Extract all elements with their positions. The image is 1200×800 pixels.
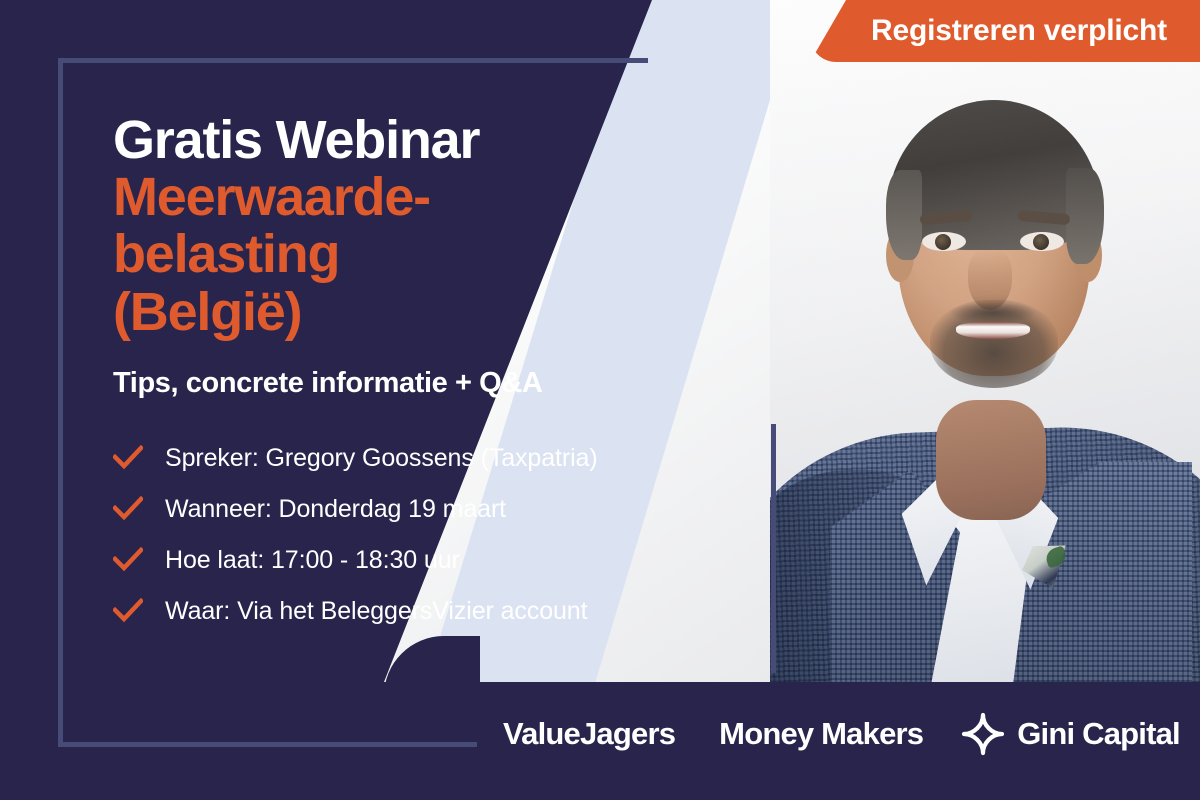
list-item-label: Wanneer: Donderdag 19 maart [165,495,506,524]
check-icon [113,445,143,471]
eye-left [922,232,966,251]
webinar-promo-banner: Registreren verplicht Gratis Webinar Mee… [0,0,1200,800]
check-icon [113,496,143,522]
list-item-label: Waar: Via het BeleggersVizier account [165,597,587,626]
hair-temple-right [1066,168,1104,264]
list-item: Hoe laat: 17:00 - 18:30 uur [113,546,753,575]
logo-gini-capital-label: Gini Capital [1017,716,1180,752]
list-item: Waar: Via het BeleggersVizier account [113,597,753,626]
list-item-label: Hoe laat: 17:00 - 18:30 uur [165,546,460,575]
logo-gini-capital: Gini Capital [961,712,1180,756]
headline-line-2: Meerwaarde- [113,169,753,226]
logo-money-makers: Money Makers [719,716,923,752]
speaker-portrait-illustration [770,0,1200,684]
registration-badge-label: Registreren verplicht [843,14,1167,48]
eye-right [1020,232,1064,251]
page-title: Gratis Webinar Meerwaarde- belasting (Be… [113,112,753,341]
frame-border-left [58,58,63,747]
four-point-star-icon [961,712,1005,756]
headline-line-3: belasting [113,226,753,283]
list-item-label: Spreker: Gregory Goossens (Taxpatria) [165,444,598,473]
hair-temple-left [886,170,922,260]
speaker-photo [770,0,1200,684]
headline-line-1: Gratis Webinar [113,112,753,169]
iris-right [1033,234,1049,250]
check-icon [113,598,143,624]
partner-logo-row: ValueJagers Money Makers Gini Capital [503,712,1180,756]
mouth [956,322,1030,339]
frame-border-right [771,424,776,673]
subtitle: Tips, concrete informatie + Q&A [113,367,753,400]
list-item: Spreker: Gregory Goossens (Taxpatria) [113,444,753,473]
content-block: Gratis Webinar Meerwaarde- belasting (Be… [113,112,753,648]
iris-left [935,234,951,250]
details-list: Spreker: Gregory Goossens (Taxpatria) Wa… [113,444,753,626]
list-item: Wanneer: Donderdag 19 maart [113,495,753,524]
neck [936,400,1046,520]
frame-border-top [58,58,648,63]
check-icon [113,547,143,573]
headline-line-4: (België) [113,284,753,341]
frame-border-bottom [58,742,477,747]
moustache [950,302,1036,324]
registration-badge: Registreren verplicht [810,0,1200,62]
logo-value-jagers: ValueJagers [503,716,675,752]
